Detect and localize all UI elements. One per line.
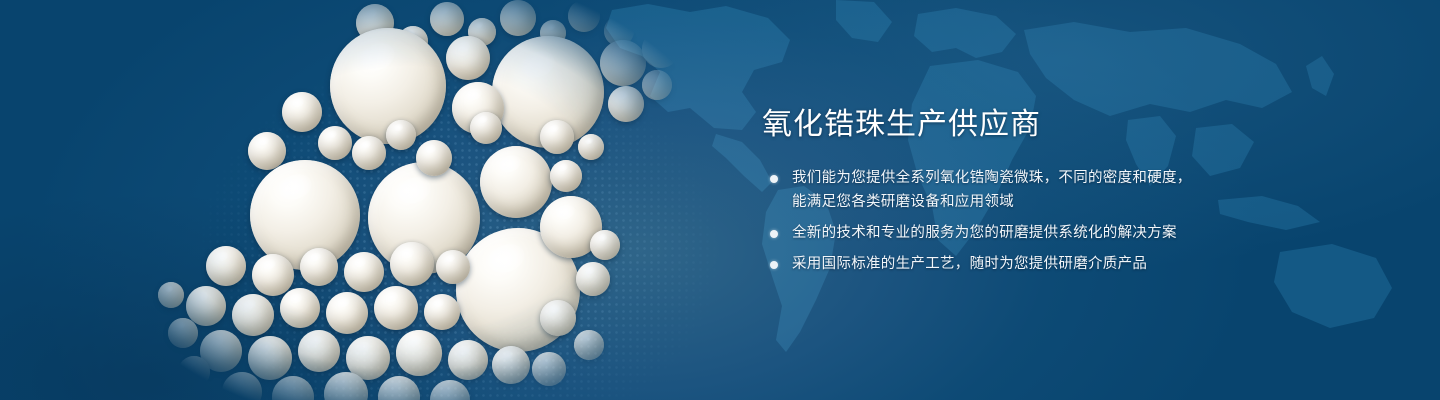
list-item: 我们能为您提供全系列氧化锆陶瓷微珠，不同的密度和硬度， 能满足您各类研磨设备和应… [762,166,1282,214]
list-item: 采用国际标准的生产工艺，随时为您提供研磨介质产品 [762,252,1282,276]
bullet-dot-icon [770,175,778,183]
banner-text-block: 氧化锆珠生产供应商 我们能为您提供全系列氧化锆陶瓷微珠，不同的密度和硬度， 能满… [762,106,1282,276]
zirconia-beads-photo [0,0,760,400]
list-item: 全新的技术和专业的服务为您的研磨提供系统化的解决方案 [762,221,1282,245]
bullet-dot-icon [770,230,778,238]
list-item-line: 全新的技术和专业的服务为您的研磨提供系统化的解决方案 [792,221,1282,245]
promo-banner: 氧化锆珠生产供应商 我们能为您提供全系列氧化锆陶瓷微珠，不同的密度和硬度， 能满… [0,0,1440,400]
list-item-line: 能满足您各类研磨设备和应用领域 [792,190,1282,214]
feature-list: 我们能为您提供全系列氧化锆陶瓷微珠，不同的密度和硬度， 能满足您各类研磨设备和应… [762,166,1282,276]
page-title: 氧化锆珠生产供应商 [762,106,1282,144]
list-item-line: 我们能为您提供全系列氧化锆陶瓷微珠，不同的密度和硬度， [792,166,1282,190]
list-item-line: 采用国际标准的生产工艺，随时为您提供研磨介质产品 [792,252,1282,276]
bullet-dot-icon [770,261,778,269]
